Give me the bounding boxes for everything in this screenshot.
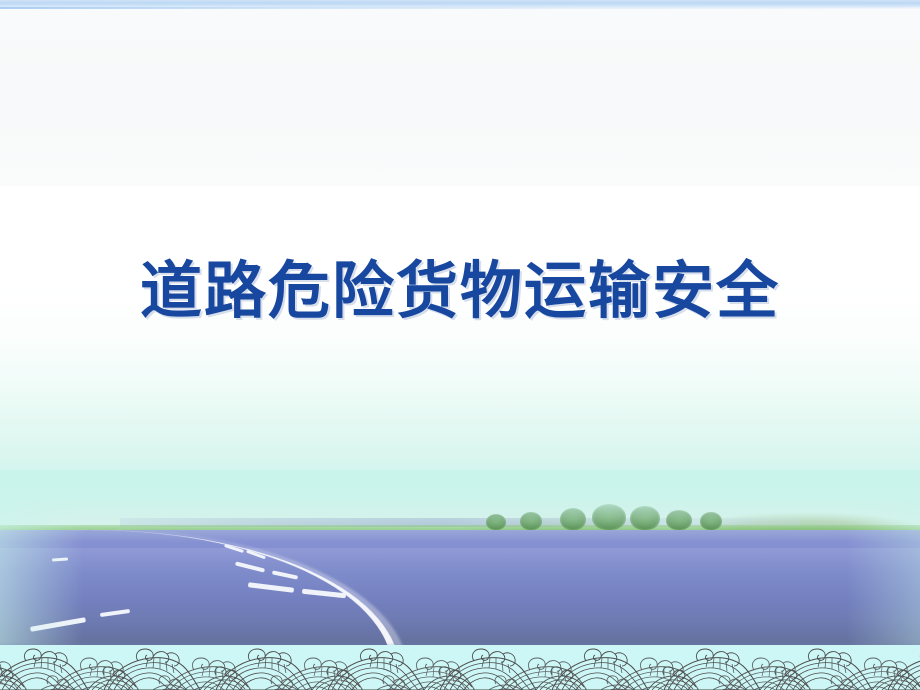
slide-title: 道路危险货物运输安全 <box>140 258 780 327</box>
top-ribbon-accent-line <box>0 7 920 9</box>
background-upper-panel <box>0 0 920 186</box>
photo-tree <box>520 512 542 530</box>
photo-tree <box>700 512 722 530</box>
wave-pattern-icon <box>0 645 920 690</box>
background-gradient-panel <box>0 186 920 516</box>
photo-tree <box>486 514 506 530</box>
title-container: 道路危险货物运输安全 <box>0 258 920 327</box>
photo-tree <box>592 504 626 530</box>
photo-tree <box>560 508 586 530</box>
photo-tree <box>666 510 692 530</box>
photo-tree <box>630 506 660 530</box>
wave-border-decoration <box>0 645 920 690</box>
highway-photo <box>0 470 920 645</box>
presentation-slide: 道路危险货物运输安全 <box>0 0 920 690</box>
